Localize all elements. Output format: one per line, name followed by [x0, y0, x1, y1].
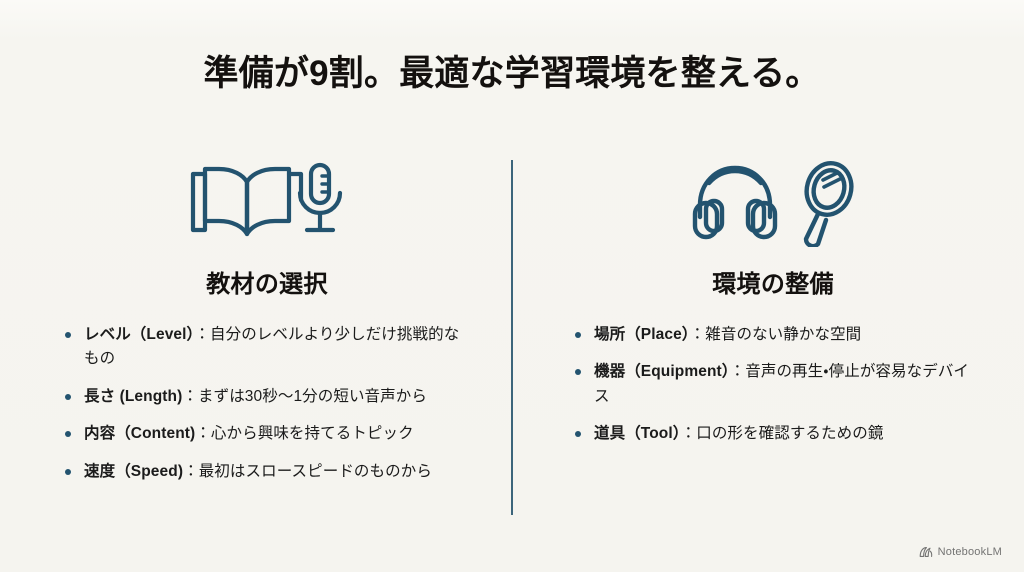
column-environment-icons — [572, 150, 974, 256]
bullet-separator: ： — [730, 363, 746, 380]
bullet-separator: ： — [194, 326, 210, 343]
notebooklm-watermark: NotebookLM — [919, 546, 1002, 558]
bullet-dot-icon — [575, 369, 581, 375]
bullet-detail: まずは30秒〜1分の短い音声から — [198, 388, 427, 405]
list-item: レベル（Level）：自分のレベルより少しだけ挑戦的なもの — [62, 323, 472, 372]
bullet-dot-icon — [65, 332, 71, 338]
bullet-term: 内容（Content) — [84, 425, 195, 442]
column-materials-bullets: レベル（Level）：自分のレベルより少しだけ挑戦的なもの 長さ (Length… — [62, 323, 472, 484]
bullet-separator: ： — [182, 388, 198, 405]
bullet-term: 道具（Tool） — [594, 425, 681, 442]
list-item: 長さ (Length)：まずは30秒〜1分の短い音声から — [62, 385, 472, 409]
bullet-term: レベル（Level） — [84, 326, 194, 343]
open-book-icon — [188, 161, 306, 245]
bullet-dot-icon — [65, 431, 71, 437]
column-materials-icons — [62, 150, 472, 256]
bullet-term: 長さ (Length) — [84, 388, 182, 405]
list-item: 内容（Content)：心から興味を持てるトピック — [62, 422, 472, 446]
column-environment-bullets: 場所（Place）：雑音のない静かな空間 機器（Equipment）：音声の再生… — [572, 323, 974, 447]
column-materials-heading: 教材の選択 — [62, 264, 472, 299]
bullet-separator: ： — [195, 425, 211, 442]
bullet-term: 速度（Speed) — [84, 463, 183, 480]
headphones-icon — [692, 161, 778, 245]
list-item: 道具（Tool）：口の形を確認するための鏡 — [572, 422, 974, 446]
bullet-detail: 最初はスロースピードのものから — [199, 463, 432, 480]
notebooklm-logo-icon — [919, 546, 933, 558]
bullet-term: 場所（Place） — [594, 326, 690, 343]
microphone-icon — [294, 160, 346, 246]
columns-container: 教材の選択 レベル（Level）：自分のレベルより少しだけ挑戦的なもの 長さ (… — [0, 150, 1024, 484]
list-item: 機器（Equipment）：音声の再生・停止が容易なデバイス — [572, 360, 974, 409]
slide-canvas: 準備が9割。最適な学習環境を整える。 — [0, 0, 1024, 572]
list-item: 場所（Place）：雑音のない静かな空間 — [572, 323, 974, 347]
bullet-separator: ： — [681, 425, 697, 442]
column-environment: 環境の整備 場所（Place）：雑音のない静かな空間 機器（Equipment）… — [512, 150, 1024, 447]
column-materials: 教材の選択 レベル（Level）：自分のレベルより少しだけ挑戦的なもの 長さ (… — [0, 150, 512, 484]
column-environment-heading: 環境の整備 — [572, 264, 974, 299]
bullet-dot-icon — [65, 394, 71, 400]
bullet-separator: ： — [183, 463, 199, 480]
bullet-dot-icon — [65, 469, 71, 475]
hand-mirror-icon — [796, 159, 854, 247]
bullet-detail: 口の形を確認するための鏡 — [696, 425, 883, 442]
bullet-detail: 雑音のない静かな空間 — [705, 326, 861, 343]
bullet-separator: ： — [690, 326, 706, 343]
notebooklm-watermark-label: NotebookLM — [938, 546, 1002, 558]
bullet-term: 機器（Equipment） — [594, 363, 730, 380]
bullet-detail: 心から興味を持てるトピック — [211, 425, 414, 442]
bullet-dot-icon — [575, 332, 581, 338]
page-title: 準備が9割。最適な学習環境を整える。 — [0, 52, 1024, 96]
list-item: 速度（Speed)：最初はスロースピードのものから — [62, 460, 472, 484]
bullet-dot-icon — [575, 431, 581, 437]
